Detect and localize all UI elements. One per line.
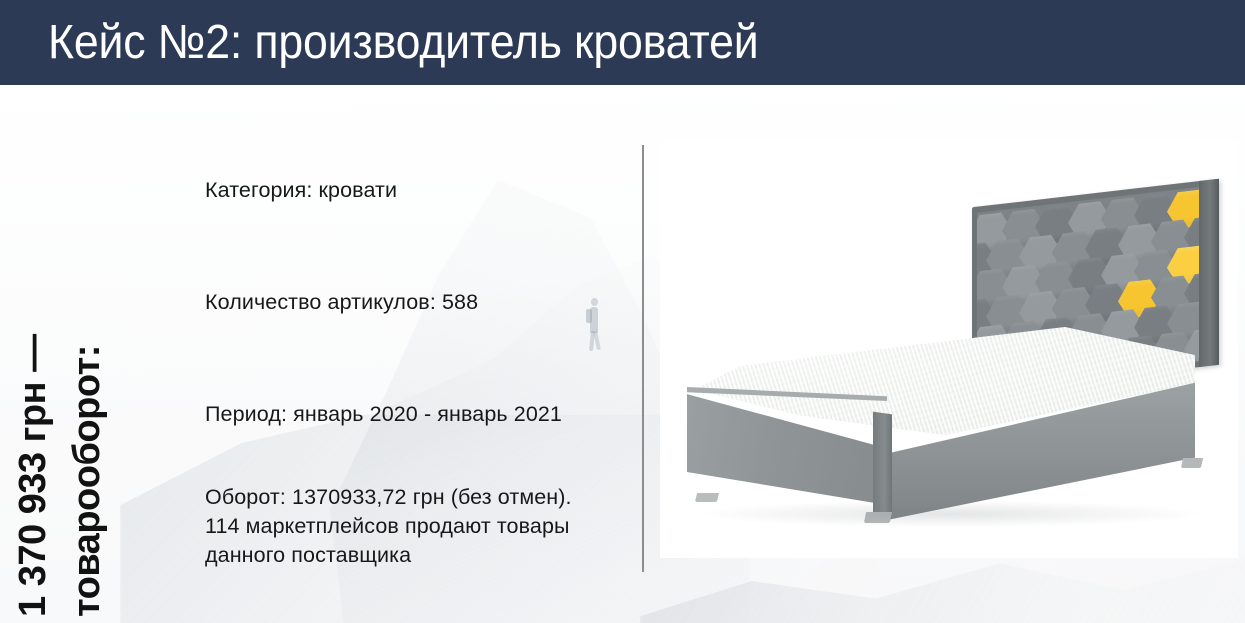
- headboard-side-rail: [1199, 179, 1219, 367]
- vertical-headline-line-1: 1 370 933 грн —: [6, 187, 60, 617]
- bed-leg: [1181, 458, 1203, 468]
- info-turnover: Оборот: 1370933,72 грн (без отмен). 114 …: [205, 483, 605, 570]
- vertical-headline-line-2: товарооборот:: [60, 187, 114, 617]
- info-period: Период: январь 2020 - январь 2021: [205, 400, 605, 429]
- vertical-headline: 1 370 933 грн — товарооборот:: [6, 187, 114, 617]
- page-title: Кейс №2: производитель кроватей: [48, 10, 758, 76]
- bed-floor-shadow: [700, 501, 1200, 527]
- info-category: Категория: кровати: [205, 176, 605, 205]
- bed-product-image: [660, 141, 1238, 558]
- info-column: Категория: кровати Количество артикулов:…: [205, 176, 605, 570]
- product-photo-panel: [660, 141, 1238, 558]
- vertical-divider: [642, 145, 644, 572]
- header-band: Кейс №2: производитель кроватей: [0, 0, 1245, 85]
- info-sku-count: Количество артикулов: 588: [205, 288, 605, 317]
- slide-root: Кейс №2: производитель кроватей 1 370 93…: [0, 0, 1245, 623]
